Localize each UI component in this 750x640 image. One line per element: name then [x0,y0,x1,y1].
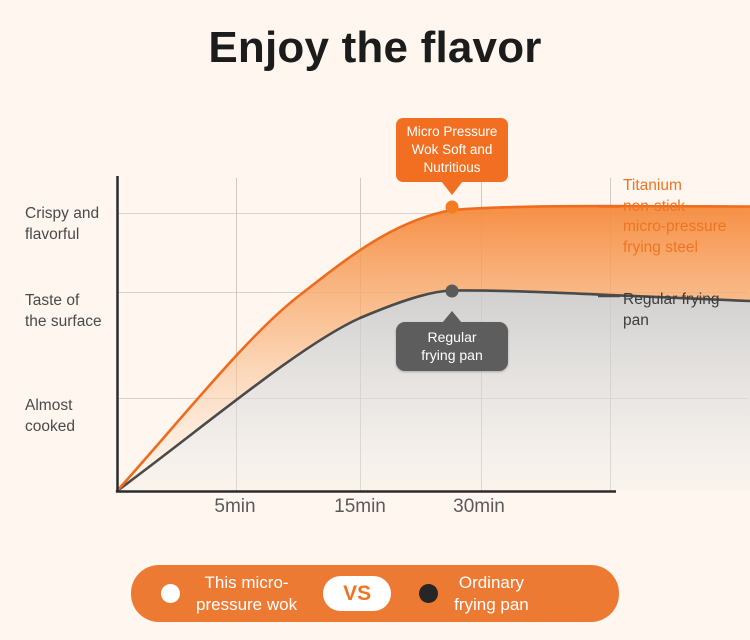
micro-pressure-marker[interactable] [446,201,459,214]
vs-badge: VS [323,576,391,611]
legend-bar: This micro- pressure wok VS Ordinary fry… [131,565,619,622]
series-label-regular-pan: Regular frying pan [623,290,750,331]
vs-label: VS [343,582,371,606]
series-label-regular-pan-line1: Regular frying [623,290,750,311]
y-axis-label-taste-line1: Taste of [25,291,145,312]
series-label-regular-pan-line2: pan [623,311,750,332]
legend-item-ordinary-frying-pan[interactable]: Ordinary frying pan [419,572,529,615]
series-label-micro-pressure: Titanium non-stick micro-pressure frying… [623,176,750,258]
legend-label-ordinary-frying-pan: Ordinary frying pan [454,572,529,615]
callout-micro-pressure[interactable]: Micro Pressure Wok Soft and Nutritious [396,118,508,182]
x-axis-label-30min: 30min [424,496,534,518]
callout-micro-pressure-line1: Micro Pressure [398,123,506,141]
series-label-micro-pressure-line2: non-stick [623,197,750,218]
series-label-micro-pressure-line4: frying steel [623,238,750,259]
legend-label-micro-pressure-wok: This micro- pressure wok [196,572,297,615]
callout-micro-pressure-line2: Wok Soft and [398,141,506,159]
y-axis-label-taste-line2: the surface [25,312,145,333]
series-label-micro-pressure-line3: micro-pressure [623,217,750,238]
y-axis-label-crispy: Crispy and flavorful [25,204,145,245]
regular-pan-marker[interactable] [446,285,459,298]
x-axis-label-15min: 15min [305,496,415,518]
callout-micro-pressure-line3: Nutritious [398,159,506,177]
series-label-micro-pressure-line1: Titanium [623,176,750,197]
callout-regular-pan-line1: Regular [398,328,506,346]
callout-regular-pan[interactable]: Regular frying pan [396,322,508,371]
legend-item-micro-pressure-wok[interactable]: This micro- pressure wok [161,572,297,615]
y-axis-label-taste: Taste of the surface [25,291,145,332]
y-axis-label-almost-cooked-line1: Almost [25,396,145,417]
callout-regular-pan-line2: frying pan [398,346,506,364]
legend-dot-white-icon [161,584,180,603]
y-axis-label-almost-cooked: Almost cooked [25,396,145,437]
y-axis-label-crispy-line2: flavorful [25,225,145,246]
x-axis-label-5min: 5min [180,496,290,518]
y-axis-label-almost-cooked-line2: cooked [25,417,145,438]
legend-dot-dark-icon [419,584,438,603]
flavor-line-chart [0,0,750,545]
y-axis-label-crispy-line1: Crispy and [25,204,145,225]
chart-container: Crispy and flavorful Taste of the surfac… [0,0,750,545]
